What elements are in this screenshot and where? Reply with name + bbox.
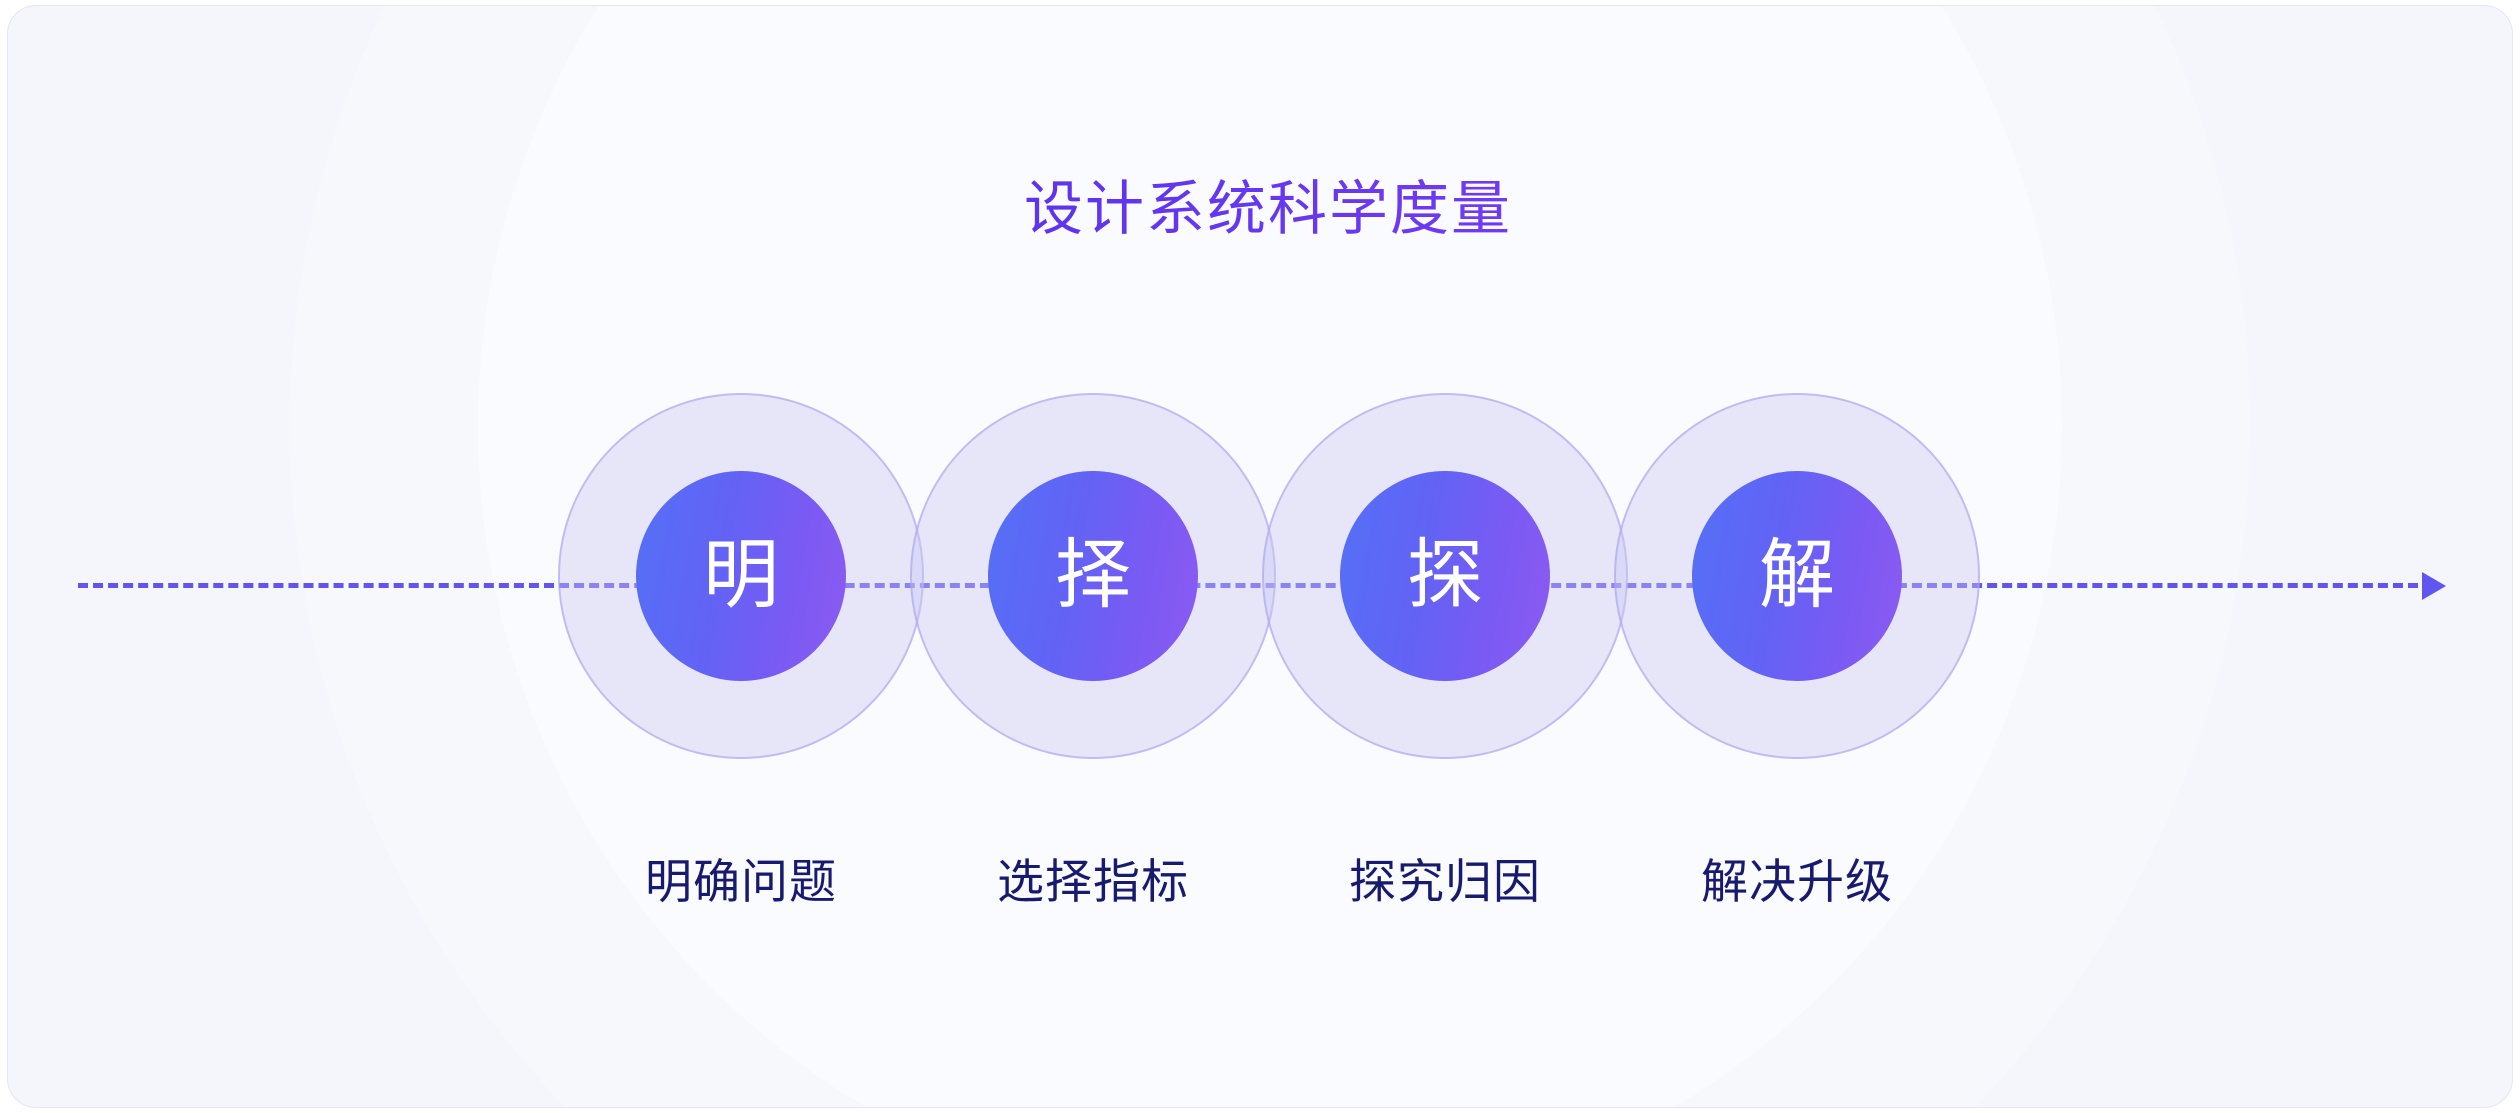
diagram-card: 设计系统科学度量 明 择 探 [8,6,2512,1107]
step-core-4[interactable]: 解 [1692,471,1902,681]
screenshot-stage: 设计系统科学度量 明 择 探 [0,0,2520,1113]
steps-group: 明 择 探 解 明确问题 [8,6,2512,1107]
step-core-3[interactable]: 探 [1340,471,1550,681]
step-label-4: 解决升级 [1614,853,1980,912]
step-glyph-3: 探 [1407,538,1483,614]
step-node-2[interactable]: 择 [910,393,1276,759]
step-label-2: 选择指标 [910,853,1276,912]
step-node-1[interactable]: 明 [558,393,924,759]
step-glyph-4: 解 [1759,538,1835,614]
step-label-3: 探究归因 [1262,853,1628,912]
step-core-2[interactable]: 择 [988,471,1198,681]
step-core-1[interactable]: 明 [636,471,846,681]
step-glyph-1: 明 [703,538,779,614]
step-glyph-2: 择 [1055,538,1131,614]
step-node-4[interactable]: 解 [1614,393,1980,759]
step-node-3[interactable]: 探 [1262,393,1628,759]
step-label-1: 明确问题 [558,853,924,912]
